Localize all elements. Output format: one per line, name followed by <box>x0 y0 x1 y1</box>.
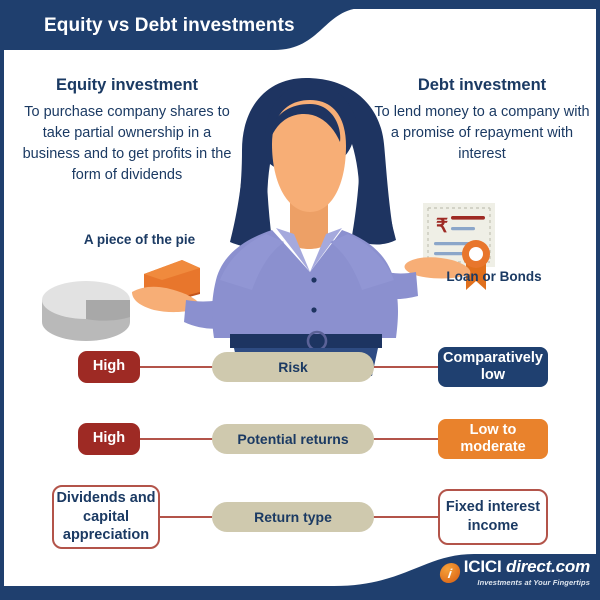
brand-tagline: Investments at Your Fingertips <box>477 578 590 587</box>
blouse-button-bottom <box>311 307 316 312</box>
hair-back <box>230 82 396 248</box>
brand-icici: ICICI <box>464 557 502 576</box>
left-sleeve <box>184 286 266 329</box>
footer-banner: i ICICI direct.com Investments at Your F… <box>4 540 600 596</box>
equity-column-body: To purchase company shares to take parti… <box>16 102 238 186</box>
loan-icon-label: Loan or Bonds <box>434 269 554 286</box>
debt-value-returns: Low to moderate <box>438 419 548 459</box>
debt-column-title: Debt investment <box>374 76 590 95</box>
right-sleeve <box>340 258 418 299</box>
connector-line-left <box>139 438 219 440</box>
face <box>272 100 346 212</box>
connector-line-right <box>372 366 440 368</box>
criteria-return-type: Return type <box>212 502 374 532</box>
criteria-risk: Risk <box>212 352 374 382</box>
pie-chart-icon <box>42 281 130 341</box>
pie-slice-icon <box>144 260 200 304</box>
criteria-potential-returns: Potential returns <box>212 424 374 454</box>
pie-icon-label: A piece of the pie <box>82 232 197 249</box>
equity-value-returns: High <box>78 423 140 455</box>
equity-value-risk: High <box>78 351 140 383</box>
blouse-button-top <box>311 277 316 282</box>
debt-column-body: To lend money to a company with a promis… <box>374 102 590 165</box>
hair-front <box>232 78 394 245</box>
debt-value-risk: Comparatively low <box>438 347 548 387</box>
brand-direct: direct.com <box>506 557 590 576</box>
brand-logo[interactable]: i ICICI direct.com Investments at Your F… <box>440 558 590 587</box>
equity-column: Equity investment To purchase company sh… <box>16 76 238 186</box>
neck <box>290 200 328 249</box>
blouse <box>212 230 398 338</box>
equity-column-title: Equity investment <box>16 76 238 95</box>
connector-line-right <box>372 438 440 440</box>
infographic-root: Equity vs Debt investments <box>0 0 600 600</box>
header-banner: Equity vs Debt investments <box>4 4 600 60</box>
connector-line-left <box>139 366 219 368</box>
comparison-row: High Potential returns Low to moderate <box>4 416 600 462</box>
logo-letter: i <box>447 566 452 579</box>
debt-column: Debt investment To lend money to a compa… <box>374 76 590 165</box>
connector-line-right <box>372 516 438 518</box>
collar-left <box>276 228 310 272</box>
brand-name: ICICI direct.com <box>464 558 590 575</box>
icici-logo-icon: i <box>438 563 461 583</box>
left-hand <box>132 287 200 312</box>
page-title: Equity vs Debt investments <box>44 15 295 37</box>
comparison-row: High Risk Comparatively low <box>4 344 600 390</box>
debt-value-return-type: Fixed interest income <box>438 489 548 545</box>
collar-right <box>310 228 342 272</box>
svg-text:₹: ₹ <box>436 216 448 237</box>
connector-line-left <box>160 516 212 518</box>
